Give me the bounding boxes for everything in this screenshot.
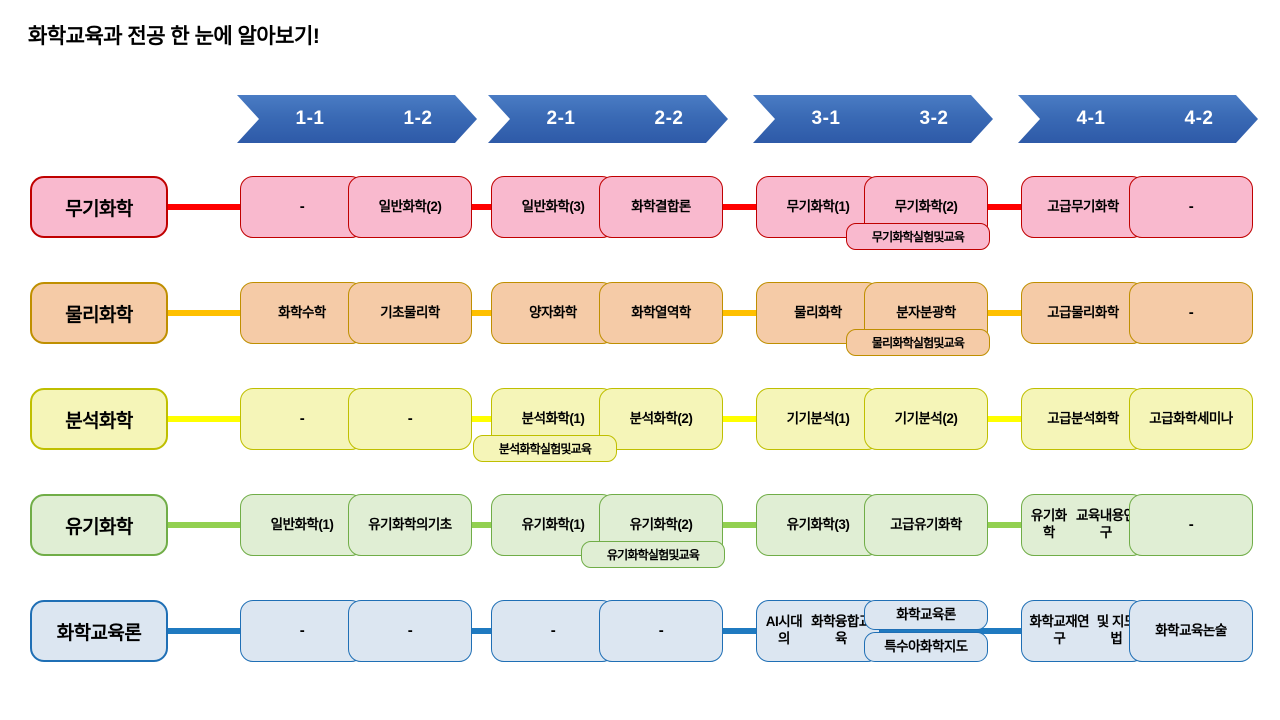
course-cell-physical-1-2[interactable]: 기초물리학: [348, 282, 472, 344]
course-cell-analytical-1-2[interactable]: -: [348, 388, 472, 450]
course-cell-inorganic-1-2[interactable]: 일반화학(2): [348, 176, 472, 238]
course-cell-analytical-1-1[interactable]: -: [240, 388, 364, 450]
course-cell-education-3-2-2[interactable]: 특수아화학지도: [864, 632, 988, 662]
course-cell-inorganic-4-2[interactable]: -: [1129, 176, 1253, 238]
lab-course-cell-organic-2-2[interactable]: 유기화학실험및교육: [581, 541, 725, 568]
course-cell-education-2-2[interactable]: -: [599, 600, 723, 662]
course-cell-education-1-2[interactable]: -: [348, 600, 472, 662]
course-cell-organic-4-1[interactable]: 유기화학교육내용연구: [1021, 494, 1145, 556]
course-cell-physical-4-2[interactable]: -: [1129, 282, 1253, 344]
course-cell-organic-3-2[interactable]: 고급유기화학: [864, 494, 988, 556]
course-cell-line: AI시대의: [761, 614, 807, 648]
curriculum-row-inorganic: 무기화학-일반화학(2)일반화학(3)화학결합론무기화학(1)무기화학(2)무기…: [0, 176, 1280, 266]
semester-chevron-1-1: 1-1: [237, 95, 369, 143]
curriculum-row-physical: 물리화학화학수학기초물리학양자화학화학열역학물리화학분자분광학물리화학실험및교육…: [0, 282, 1280, 372]
course-cell-analytical-4-2[interactable]: 고급화학세미나: [1129, 388, 1253, 450]
course-cell-physical-4-1[interactable]: 고급물리화학: [1021, 282, 1145, 344]
lab-course-cell-analytical-2-1[interactable]: 분석화학실험및교육: [473, 435, 617, 462]
page-title: 화학교육과 전공 한 눈에 알아보기!: [28, 20, 319, 50]
category-label-organic[interactable]: 유기화학: [30, 494, 168, 556]
course-cell-inorganic-1-1[interactable]: -: [240, 176, 364, 238]
curriculum-row-organic: 유기화학일반화학(1)유기화학의기초유기화학(1)유기화학(2)유기화학실험및교…: [0, 494, 1280, 584]
course-cell-line: 기초: [428, 517, 452, 534]
course-cell-inorganic-4-1[interactable]: 고급무기화학: [1021, 176, 1145, 238]
course-cell-line: 화학교재연구: [1026, 614, 1093, 648]
semester-chevron-3-1: 3-1: [753, 95, 885, 143]
course-cell-education-4-2[interactable]: 화학교육논술: [1129, 600, 1253, 662]
course-cell-inorganic-2-1[interactable]: 일반화학(3): [491, 176, 615, 238]
semester-chevron-4-1: 4-1: [1018, 95, 1150, 143]
curriculum-row-analytical: 분석화학--분석화학(1)분석화학실험및교육분석화학(2)기기분석(1)기기분석…: [0, 388, 1280, 478]
lab-course-cell-physical-3-2[interactable]: 물리화학실험및교육: [846, 329, 990, 356]
semester-chevron-2-1: 2-1: [488, 95, 620, 143]
category-label-analytical[interactable]: 분석화학: [30, 388, 168, 450]
course-cell-education-3-2-1[interactable]: 화학교육론: [864, 600, 988, 630]
course-cell-analytical-2-2[interactable]: 분석화학(2): [599, 388, 723, 450]
curriculum-row-education: 화학교육론----AI시대의화학융합교육화학교육론특수아화학지도화학교재연구및 …: [0, 600, 1280, 690]
category-label-inorganic[interactable]: 무기화학: [30, 176, 168, 238]
course-cell-physical-1-1[interactable]: 화학수학: [240, 282, 364, 344]
course-cell-analytical-3-2[interactable]: 기기분석(2): [864, 388, 988, 450]
course-cell-physical-2-1[interactable]: 양자화학: [491, 282, 615, 344]
lab-course-cell-inorganic-3-2[interactable]: 무기화학실험및교육: [846, 223, 990, 250]
course-cell-organic-1-1[interactable]: 일반화학(1): [240, 494, 364, 556]
course-cell-organic-3-1[interactable]: 유기화학(3): [756, 494, 880, 556]
semester-header-band: 1-11-22-12-23-13-24-14-2: [0, 95, 1280, 145]
course-cell-analytical-3-1[interactable]: 기기분석(1): [756, 388, 880, 450]
course-cell-education-2-1[interactable]: -: [491, 600, 615, 662]
category-label-physical[interactable]: 물리화학: [30, 282, 168, 344]
course-cell-organic-4-2[interactable]: -: [1129, 494, 1253, 556]
course-cell-education-3-1[interactable]: AI시대의화학융합교육: [756, 600, 880, 662]
course-cell-education-4-1[interactable]: 화학교재연구및 지도법: [1021, 600, 1145, 662]
course-cell-inorganic-2-2[interactable]: 화학결합론: [599, 176, 723, 238]
course-cell-line: 유기화학의: [368, 517, 428, 534]
course-cell-organic-1-2[interactable]: 유기화학의기초: [348, 494, 472, 556]
course-cell-line: 유기화학: [1026, 508, 1072, 542]
category-label-education[interactable]: 화학교육론: [30, 600, 168, 662]
course-cell-physical-2-2[interactable]: 화학열역학: [599, 282, 723, 344]
course-cell-education-1-1[interactable]: -: [240, 600, 364, 662]
course-cell-analytical-4-1[interactable]: 고급분석화학: [1021, 388, 1145, 450]
